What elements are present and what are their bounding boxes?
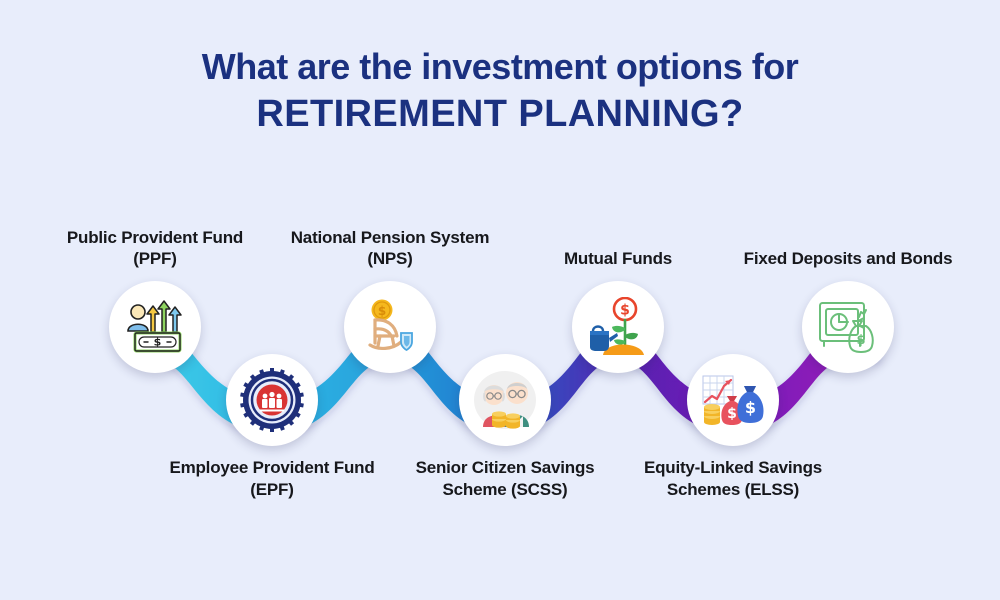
node-scss[interactable]: Senior Citizen Savings Scheme (SCSS) <box>459 354 551 446</box>
epf-label: Employee Provident Fund (EPF) <box>167 457 377 501</box>
svg-text:$: $ <box>620 303 630 319</box>
scss-label: Senior Citizen Savings Scheme (SCSS) <box>400 457 610 501</box>
scss-icon-circle[interactable] <box>459 354 551 446</box>
node-nps[interactable]: $ National Pension System (NPS) <box>344 281 436 373</box>
ppf-label: Public Provident Fund (PPF) <box>50 227 260 271</box>
investment-options-flow: $ Public Provident Fund (PPF) <box>0 0 1000 600</box>
person-growth-arrows-banknote-icon: $ <box>125 298 185 356</box>
svg-text:$: $ <box>856 333 865 348</box>
node-fixed-deposits[interactable]: $ Fixed Deposits and Bonds <box>802 281 894 373</box>
epfo-gear-emblem-icon <box>240 368 304 432</box>
chart-money-bags-icon: $ $ <box>700 372 766 428</box>
elss-icon-circle[interactable]: $ $ <box>687 354 779 446</box>
svg-text:$: $ <box>378 304 386 318</box>
epf-icon-circle[interactable] <box>226 354 318 446</box>
node-elss[interactable]: $ $ Equity-Linked Savings Schemes (ELSS) <box>687 354 779 446</box>
svg-text:$: $ <box>727 406 737 422</box>
rocking-chair-coin-shield-icon: $ <box>361 298 419 356</box>
fixed-deposits-icon-circle[interactable]: $ <box>802 281 894 373</box>
node-ppf[interactable]: $ Public Provident Fund (PPF) <box>109 281 201 373</box>
nps-icon-circle[interactable]: $ <box>344 281 436 373</box>
safe-vault-money-bag-icon: $ <box>817 299 879 355</box>
plant-coin-watering-can-icon: $ <box>587 297 649 357</box>
ppf-icon-circle[interactable]: $ <box>109 281 201 373</box>
mutual-funds-label: Mutual Funds <box>513 248 723 270</box>
fixed-deposits-label: Fixed Deposits and Bonds <box>743 248 953 270</box>
mutual-funds-icon-circle[interactable]: $ <box>572 281 664 373</box>
elderly-couple-coins-icon <box>471 369 539 431</box>
node-mutual-funds[interactable]: $ Mutual Funds <box>572 281 664 373</box>
svg-text:$: $ <box>154 336 162 349</box>
node-epf[interactable]: Employee Provident Fund (EPF) <box>226 354 318 446</box>
nps-label: National Pension System (NPS) <box>285 227 495 271</box>
svg-text:$: $ <box>745 398 756 417</box>
elss-label: Equity-Linked Savings Schemes (ELSS) <box>628 457 838 501</box>
